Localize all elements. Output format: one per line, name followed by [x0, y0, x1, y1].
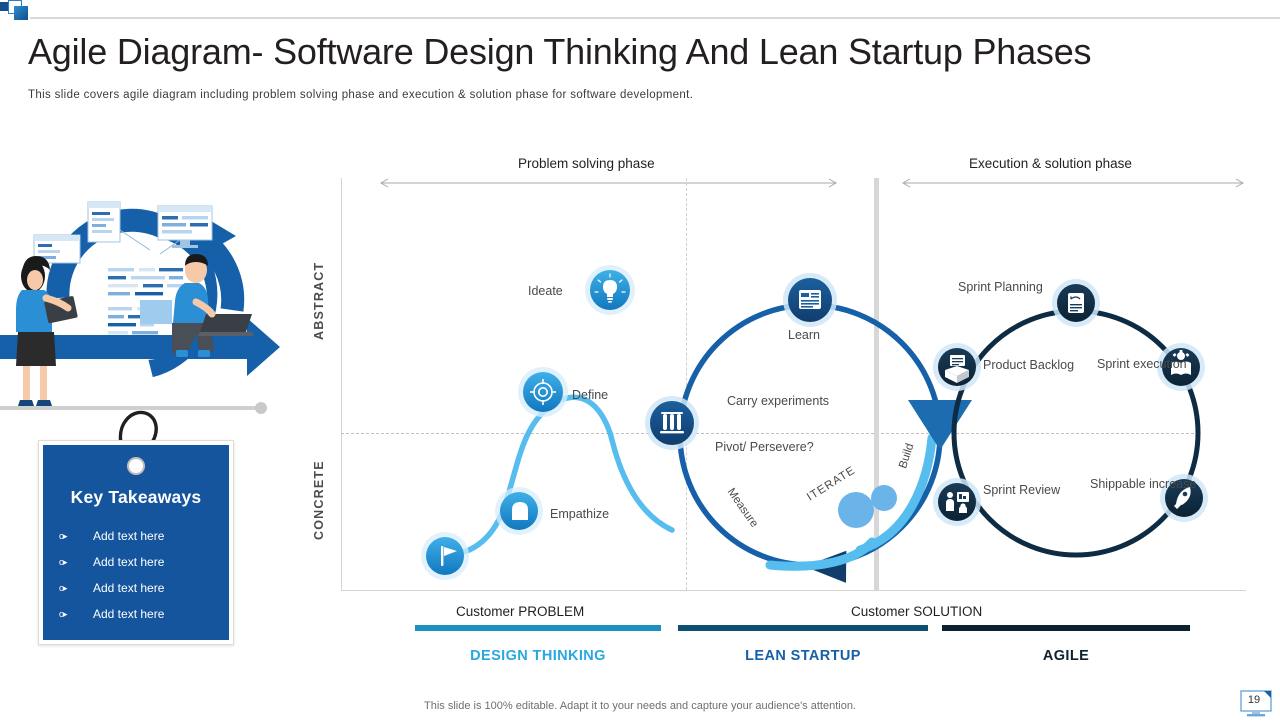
curve-label-measure: Measure: [725, 486, 760, 530]
phase-header-problem: Problem solving phase: [518, 156, 655, 171]
node-label-product-backlog: Product Backlog: [983, 358, 1049, 373]
phase-range-arrow-problem: [376, 178, 841, 188]
bullet-icon: o▸: [59, 610, 77, 619]
node-label-learn: Learn: [788, 328, 820, 342]
page-number-value: 19: [1244, 693, 1264, 707]
axis-midline-dashed: [341, 433, 1199, 434]
tag-card-body: Key Takeaways o▸ Add text here o▸ Add te…: [43, 445, 229, 640]
list-item-label: Add text here: [93, 607, 164, 621]
phase-header-execution: Execution & solution phase: [969, 156, 1132, 171]
bullet-icon: o▸: [59, 532, 77, 541]
lean-center-text-experiments: Carry experiments: [718, 394, 838, 409]
list-item[interactable]: o▸ Add text here: [59, 601, 221, 627]
diagram-canvas: [300, 150, 1260, 610]
page-title: Agile Diagram- Software Design Thinking …: [28, 31, 1091, 73]
node-label-ideate: Ideate: [528, 284, 563, 298]
legend-group-customer-solution: Customer SOLUTION: [851, 604, 982, 619]
hero-illustration: [0, 190, 290, 420]
list-item-label: Add text here: [93, 529, 164, 543]
header-divider: [30, 17, 1280, 19]
axis-bottom-line: [341, 590, 1246, 591]
legend-bar-design-thinking: [415, 625, 661, 631]
key-takeaways-list: o▸ Add text here o▸ Add text here o▸ Add…: [59, 523, 221, 627]
curve-label-iterate: ITERATE: [805, 464, 858, 503]
lean-center-text-pivot: Pivot/ Persevere?: [715, 440, 814, 454]
tag-card-frame: Key Takeaways o▸ Add text here o▸ Add te…: [38, 440, 234, 645]
list-item[interactable]: o▸ Add text here: [59, 549, 221, 575]
bullet-icon: o▸: [59, 558, 77, 567]
tag-hole: [127, 457, 145, 475]
phase-range-arrow-execution: [898, 178, 1248, 188]
slide-root: Agile Diagram- Software Design Thinking …: [0, 0, 1280, 720]
list-item[interactable]: o▸ Add text here: [59, 523, 221, 549]
logo-square-gradient: [14, 6, 28, 20]
legend-label-agile: AGILE: [942, 648, 1190, 664]
node-label-sprint-execution: Sprint execution: [1097, 357, 1165, 372]
legend-label-design-thinking: DESIGN THINKING: [415, 648, 661, 664]
list-item[interactable]: o▸ Add text here: [59, 575, 221, 601]
legend-label-lean-startup: LEAN STARTUP: [678, 648, 928, 664]
axis-label-concrete: CONCRETE: [312, 460, 326, 540]
node-label-empathize: Empathize: [550, 507, 609, 521]
list-item-label: Add text here: [93, 555, 164, 569]
curve-label-build: Build: [897, 442, 916, 470]
legend-section: Customer PROBLEM Customer SOLUTION DESIG…: [300, 600, 1260, 680]
legend-group-customer-problem: Customer PROBLEM: [456, 604, 584, 619]
list-item-label: Add text here: [93, 581, 164, 595]
legend-bar-lean-startup: [678, 625, 928, 631]
node-label-sprint-planning: Sprint Planning: [958, 280, 1043, 294]
key-takeaways-card: Key Takeaways o▸ Add text here o▸ Add te…: [36, 408, 236, 643]
node-label-shippable-increase: Shippable increase: [1090, 477, 1166, 492]
agile-diagram: Problem solving phase Execution & soluti…: [300, 150, 1260, 670]
section-divider-dashed: [686, 178, 687, 590]
page-subtitle: This slide covers agile diagram includin…: [28, 89, 693, 101]
axis-vertical-line: [341, 178, 342, 590]
legend-bar-agile: [942, 625, 1190, 631]
key-takeaways-title: Key Takeaways: [43, 487, 229, 508]
page-number-badge: 19: [1240, 690, 1274, 718]
phase-separator-bar: [874, 178, 879, 590]
node-label-define: Define: [572, 388, 608, 402]
node-label-sprint-review: Sprint Review: [983, 483, 1041, 498]
bullet-icon: o▸: [59, 584, 77, 593]
footer-note: This slide is 100% editable. Adapt it to…: [0, 700, 1280, 712]
axis-label-abstract: ABSTRACT: [312, 262, 326, 340]
